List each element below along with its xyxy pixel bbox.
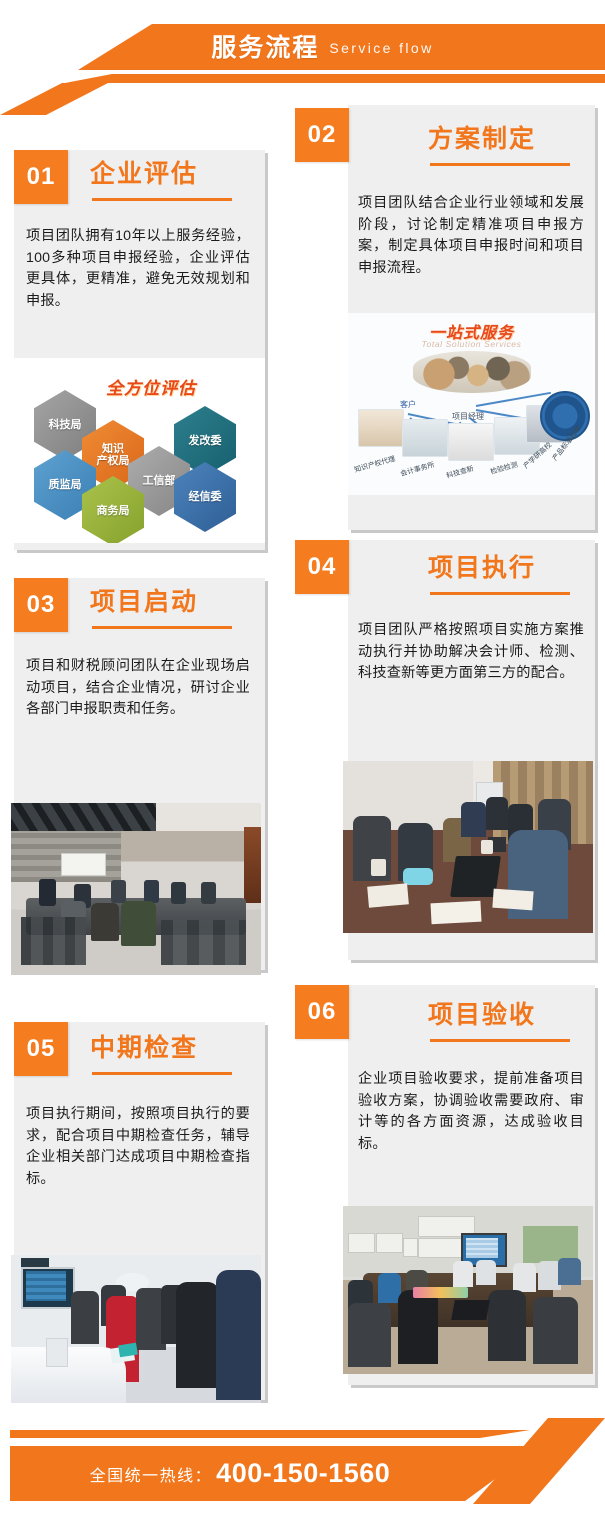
step-title: 中期检查 bbox=[90, 1036, 198, 1061]
step-card-06: 06 项目验收 企业项目验收要求，提前准备项目验收方案，协调验收需要政府、审计等… bbox=[290, 985, 605, 1405]
hotline-label: 全国统一热线： bbox=[90, 1462, 213, 1486]
diagram-node-label: 科技查新 bbox=[445, 464, 475, 481]
title-underline bbox=[430, 1039, 570, 1042]
step-title: 项目启动 bbox=[90, 590, 198, 615]
page-title: 服务流程 Service flow bbox=[0, 28, 605, 68]
diagram-node bbox=[448, 423, 494, 461]
step-description: 企业项目验收要求，提前准备项目验收方案，协调验收需要政府、审计等的各方面资源，达… bbox=[358, 1069, 584, 1155]
step-number-badge: 02 bbox=[295, 108, 349, 162]
title-underline bbox=[92, 198, 232, 201]
step-description: 项目团队结合企业行业领域和发展阶段，讨论制定精准项目申报方案，制定具体项目申报时… bbox=[358, 193, 584, 279]
step-card-04: 04 项目执行 项目团队严格按照项目实施方案推动执行并协助解决会计师、检测、科技… bbox=[290, 540, 605, 980]
diagram-certification-seal bbox=[540, 391, 590, 441]
diagram-subtitle: Total Solution Services bbox=[348, 339, 595, 349]
step-number-badge: 04 bbox=[295, 540, 349, 594]
diagram-center-label: 项目经理 bbox=[452, 411, 484, 422]
step-number-badge: 03 bbox=[14, 578, 68, 632]
step-description: 项目执行期间，按照项目执行的要求，配合项目中期检查任务，辅导企业相关部门达成项目… bbox=[26, 1104, 250, 1190]
hexagon-assessment-chart: 全方位评估 科技局 知识产权局 发改委 质监局 工信部 商务局 经信委 bbox=[14, 358, 265, 543]
page-header: 服务流程 Service flow bbox=[0, 0, 605, 112]
page-title-en: Service flow bbox=[329, 41, 433, 55]
diagram-node bbox=[402, 419, 448, 457]
step-description: 项目和财税顾问团队在企业现场启动项目，结合企业情况，研讨企业各部门申报职责和任务… bbox=[26, 656, 250, 721]
hexagon-chart-title: 全方位评估 bbox=[106, 374, 196, 399]
step-title: 方案制定 bbox=[428, 127, 536, 152]
step-description: 项目团队拥有10年以上服务经验，100多种项目申报经验，企业评估更具体，更精准，… bbox=[26, 226, 250, 312]
one-stop-service-diagram: 一站式服务 Total Solution Services 客户 项目经理 知识… bbox=[348, 313, 595, 495]
diagram-node-label: 检验检测 bbox=[489, 460, 519, 477]
diagram-node bbox=[358, 409, 404, 447]
diagram-node-label: 知识产权代理 bbox=[353, 454, 396, 475]
page-footer: 全国统一热线： 400-150-1560 bbox=[0, 1418, 605, 1538]
step-number-badge: 01 bbox=[14, 150, 68, 204]
service-flow-infographic: 服务流程 Service flow 01 企业评估 项目团队拥有10年以上服务经… bbox=[0, 0, 605, 1538]
step-description: 项目团队严格按照项目实施方案推动执行并协助解决会计师、检测、科技查新等更方面第三… bbox=[358, 620, 584, 685]
diagram-node-label: 会计事务所 bbox=[399, 460, 435, 479]
step-title: 企业评估 bbox=[90, 162, 198, 187]
header-diagonal-tail bbox=[0, 83, 200, 115]
step-number-badge: 06 bbox=[295, 985, 349, 1039]
title-underline bbox=[92, 1072, 232, 1075]
photo-team-working-laptops bbox=[343, 761, 593, 933]
step-title: 项目执行 bbox=[428, 556, 536, 581]
footer-accent-line bbox=[10, 1430, 605, 1438]
diagram-hero-photo bbox=[413, 351, 531, 393]
hotline: 全国统一热线： 400-150-1560 bbox=[0, 1446, 480, 1501]
step-number-badge: 05 bbox=[14, 1022, 68, 1076]
photo-boardroom-acceptance bbox=[343, 1206, 593, 1374]
step-card-02: 02 方案制定 项目团队结合企业行业领域和发展阶段，讨论制定精准项目申报方案，制… bbox=[290, 105, 605, 545]
title-underline bbox=[92, 626, 232, 629]
photo-conference-room-kickoff bbox=[11, 803, 261, 975]
photo-showroom-visit bbox=[11, 1255, 261, 1403]
title-underline bbox=[430, 163, 570, 166]
step-title: 项目验收 bbox=[428, 1003, 536, 1028]
step-card-03: 03 项目启动 项目和财税顾问团队在企业现场启动项目，结合企业情况，研讨企业各部… bbox=[0, 560, 300, 980]
hotline-number[interactable]: 400-150-1560 bbox=[216, 1458, 390, 1489]
page-title-cn: 服务流程 bbox=[211, 36, 319, 61]
step-card-01: 01 企业评估 项目团队拥有10年以上服务经验，100多种项目申报经验，企业评估… bbox=[0, 140, 300, 560]
title-underline bbox=[430, 592, 570, 595]
step-card-05: 05 中期检查 项目执行期间，按照项目执行的要求，配合项目中期检查任务，辅导企业… bbox=[0, 1010, 300, 1410]
header-accent-line bbox=[0, 74, 605, 83]
